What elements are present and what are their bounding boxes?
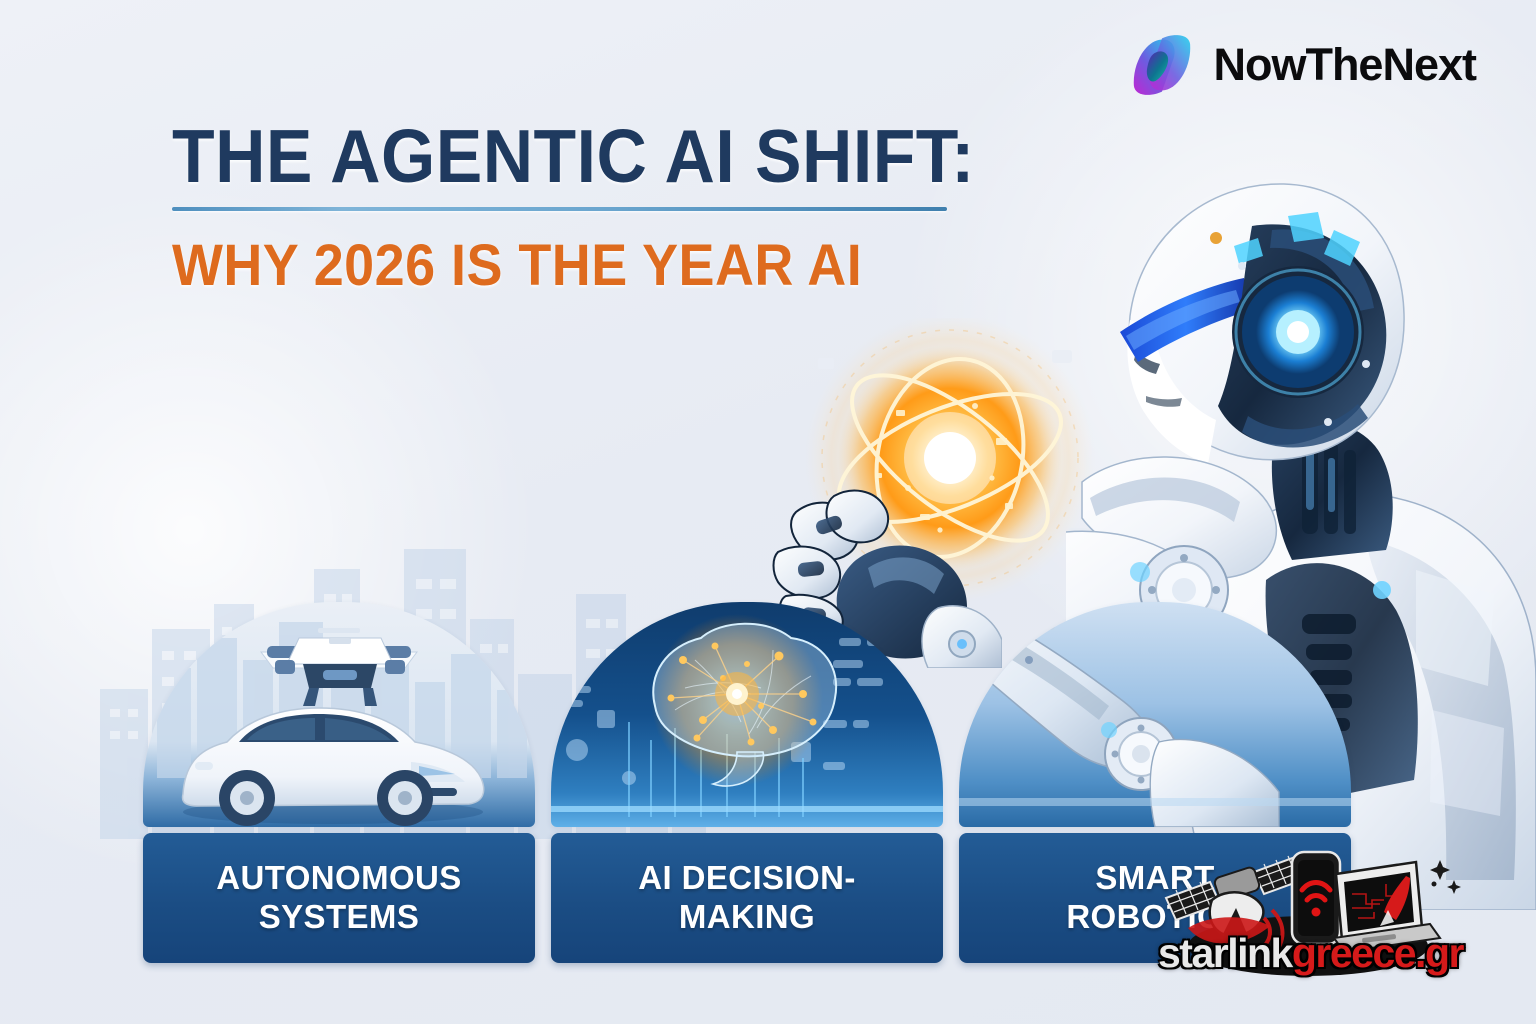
headline-divider bbox=[172, 207, 947, 211]
card-label-line1: AI DECISION- bbox=[638, 859, 855, 896]
watermark-text-primary: starlink bbox=[1158, 930, 1292, 976]
page-subtitle: WHY 2026 IS THE YEAR AI bbox=[172, 237, 916, 295]
card-label-line2: MAKING bbox=[679, 898, 815, 935]
logo-wordmark: NowTheNext bbox=[1213, 39, 1476, 91]
brand-logo[interactable]: NowTheNext bbox=[1125, 28, 1476, 102]
card-autonomous-systems[interactable]: AUTONOMOUS SYSTEMS bbox=[143, 602, 535, 963]
card-art-ai-decision-making bbox=[551, 602, 943, 827]
card-label-line1: AUTONOMOUS bbox=[216, 859, 461, 896]
watermark-text-secondary: greece.gr bbox=[1292, 930, 1463, 976]
nowthenext-n-mark-icon bbox=[1125, 28, 1199, 102]
infographic-canvas: NowTheNext THE AGENTIC AI SHIFT: WHY 202… bbox=[0, 0, 1536, 1024]
card-label-ai-decision-making: AI DECISION- MAKING bbox=[551, 833, 943, 963]
card-art-smart-robotics bbox=[959, 602, 1351, 827]
card-art-autonomous-systems bbox=[143, 602, 535, 827]
starlinkgreece-watermark: starlinkgreece.gr bbox=[1148, 838, 1478, 998]
card-ai-decision-making[interactable]: AI DECISION- MAKING bbox=[551, 602, 943, 963]
headline-block: THE AGENTIC AI SHIFT: WHY 2026 IS THE YE… bbox=[172, 122, 972, 295]
page-title: THE AGENTIC AI SHIFT: bbox=[172, 122, 916, 191]
sparkle-icon bbox=[1430, 860, 1461, 894]
card-label-line2: SYSTEMS bbox=[259, 898, 420, 935]
card-label-autonomous-systems: AUTONOMOUS SYSTEMS bbox=[143, 833, 535, 963]
